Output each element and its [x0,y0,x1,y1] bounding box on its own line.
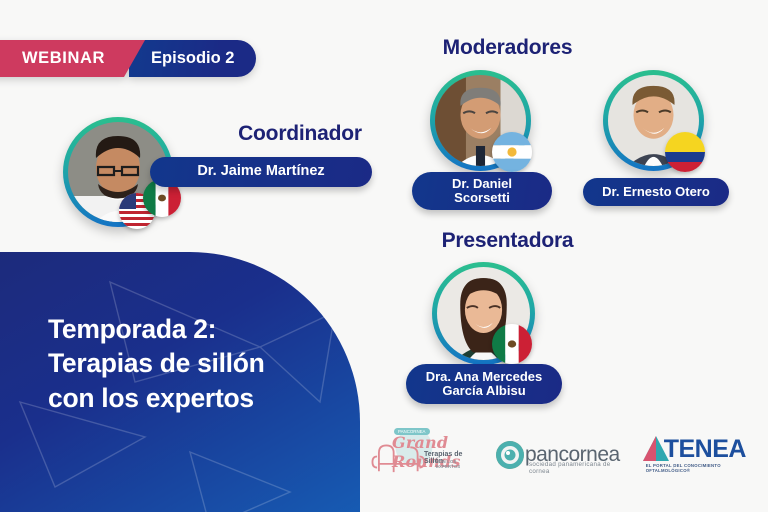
tenea-wordmark: TENEA [664,435,746,464]
webinar-promo-canvas: WEBINAR Episodio 2 Coordinador [0,0,768,512]
argentina-flag-icon [492,132,532,172]
main-title-line3: con los expertos [48,381,338,415]
logo-tenea: TENEA EL PORTAL DEL CONOCIMIENTO OFTALMO… [642,431,756,479]
coordinator-name-pill: Dr. Jaime Martínez [150,157,372,187]
colombia-flag-icon [665,132,705,172]
moderator-2-avatar [603,70,704,171]
coordinator-name: Dr. Jaime Martínez [197,164,324,180]
main-title: Temporada 2: Terapias de sillón con los … [48,312,338,415]
episode-badge-label: Episodio 2 [129,40,256,77]
presenter-section-title: Presentadora [400,229,615,253]
logo-grand-rounds: PANCORNEA Grand Rounds Terapias de Silló… [366,427,473,483]
presenter-name-line2: García Albisu [442,384,525,398]
grand-rounds-tagline: CON LOS EXPERTOS [436,459,473,469]
webinar-badge: WEBINAR Episodio 2 [0,40,256,77]
pancornea-eye-icon [495,440,525,470]
mexico-flag-icon [492,324,532,364]
presenter-avatar [432,262,535,365]
main-title-line2: Terapias de sillón [48,346,338,380]
webinar-badge-label: WEBINAR [0,40,145,77]
main-title-line1: Temporada 2: [48,312,338,346]
flag-argentina [492,132,532,172]
logo-pancornea: pancornea sociedad panamericana de corne… [495,432,620,478]
flag-colombia [665,132,705,172]
flag-mexico [492,324,532,364]
moderator-1-avatar [430,70,531,171]
presenter-name-line1: Dra. Ana Mercedes [426,370,543,384]
logo-row: PANCORNEA Grand Rounds Terapias de Silló… [366,424,756,486]
moderators-section-title: Moderadores [400,36,615,60]
moderator-1-name-line1: Dr. Daniel [452,177,512,191]
coordinator-section-title: Coordinador [185,122,415,146]
tenea-tagline: EL PORTAL DEL CONOCIMIENTO OFTALMOLÓGICO… [646,463,756,473]
moderator-2-name-pill: Dr. Ernesto Otero [583,178,729,206]
pancornea-subtitle: sociedad panamericana de cornea [529,461,620,475]
moderator-1-name-pill: Dr. Daniel Scorsetti [412,172,552,210]
moderator-2-name: Dr. Ernesto Otero [602,185,710,199]
presenter-name-pill: Dra. Ana Mercedes García Albisu [406,364,562,404]
moderator-1-name-line2: Scorsetti [454,191,510,205]
